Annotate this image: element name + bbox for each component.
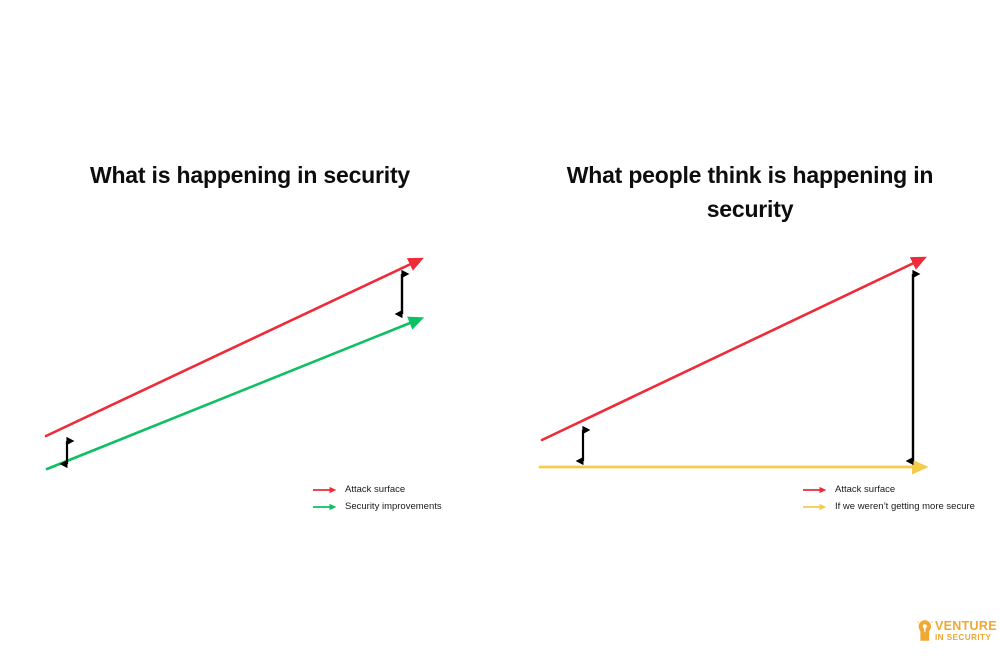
legend-item-attack-surface[interactable]: Attack surface — [802, 481, 975, 498]
legend-swatch-red-arrow-icon — [312, 485, 338, 495]
series-line-attack-surface — [46, 262, 415, 436]
head-keyhole-icon — [916, 619, 934, 643]
brand-line-venture: VENTURE — [935, 620, 997, 633]
series-line-attack-surface — [542, 261, 918, 440]
brand-line-in-security: IN SECURITY — [935, 634, 997, 642]
chart-right — [500, 0, 1000, 666]
legend-left: Attack surface Security improvements — [312, 481, 442, 515]
series-line-security-improvements — [47, 321, 415, 469]
legend-label-flat-baseline: If we weren’t getting more secure — [835, 501, 975, 512]
brand-wordmark: VENTURE IN SECURITY — [935, 620, 997, 642]
panel-what-is-happening: What is happening in security — [0, 0, 500, 666]
legend-swatch-yellow-arrow-icon — [802, 502, 828, 512]
brand-logo[interactable]: VENTURE IN SECURITY — [916, 617, 990, 645]
legend-item-security-improvements[interactable]: Security improvements — [312, 498, 442, 515]
legend-item-attack-surface[interactable]: Attack surface — [312, 481, 442, 498]
legend-right: Attack surface If we weren’t getting mor… — [802, 481, 975, 515]
legend-label-attack-surface: Attack surface — [835, 484, 895, 495]
legend-label-security-improvements: Security improvements — [345, 501, 442, 512]
slide-canvas: What is happening in security — [0, 0, 1000, 666]
legend-swatch-green-arrow-icon — [312, 502, 338, 512]
chart-left — [0, 0, 500, 666]
legend-label-attack-surface: Attack surface — [345, 484, 405, 495]
legend-item-flat-baseline[interactable]: If we weren’t getting more secure — [802, 498, 975, 515]
legend-swatch-red-arrow-icon — [802, 485, 828, 495]
panel-what-people-think: What people think is happening in securi… — [500, 0, 1000, 666]
